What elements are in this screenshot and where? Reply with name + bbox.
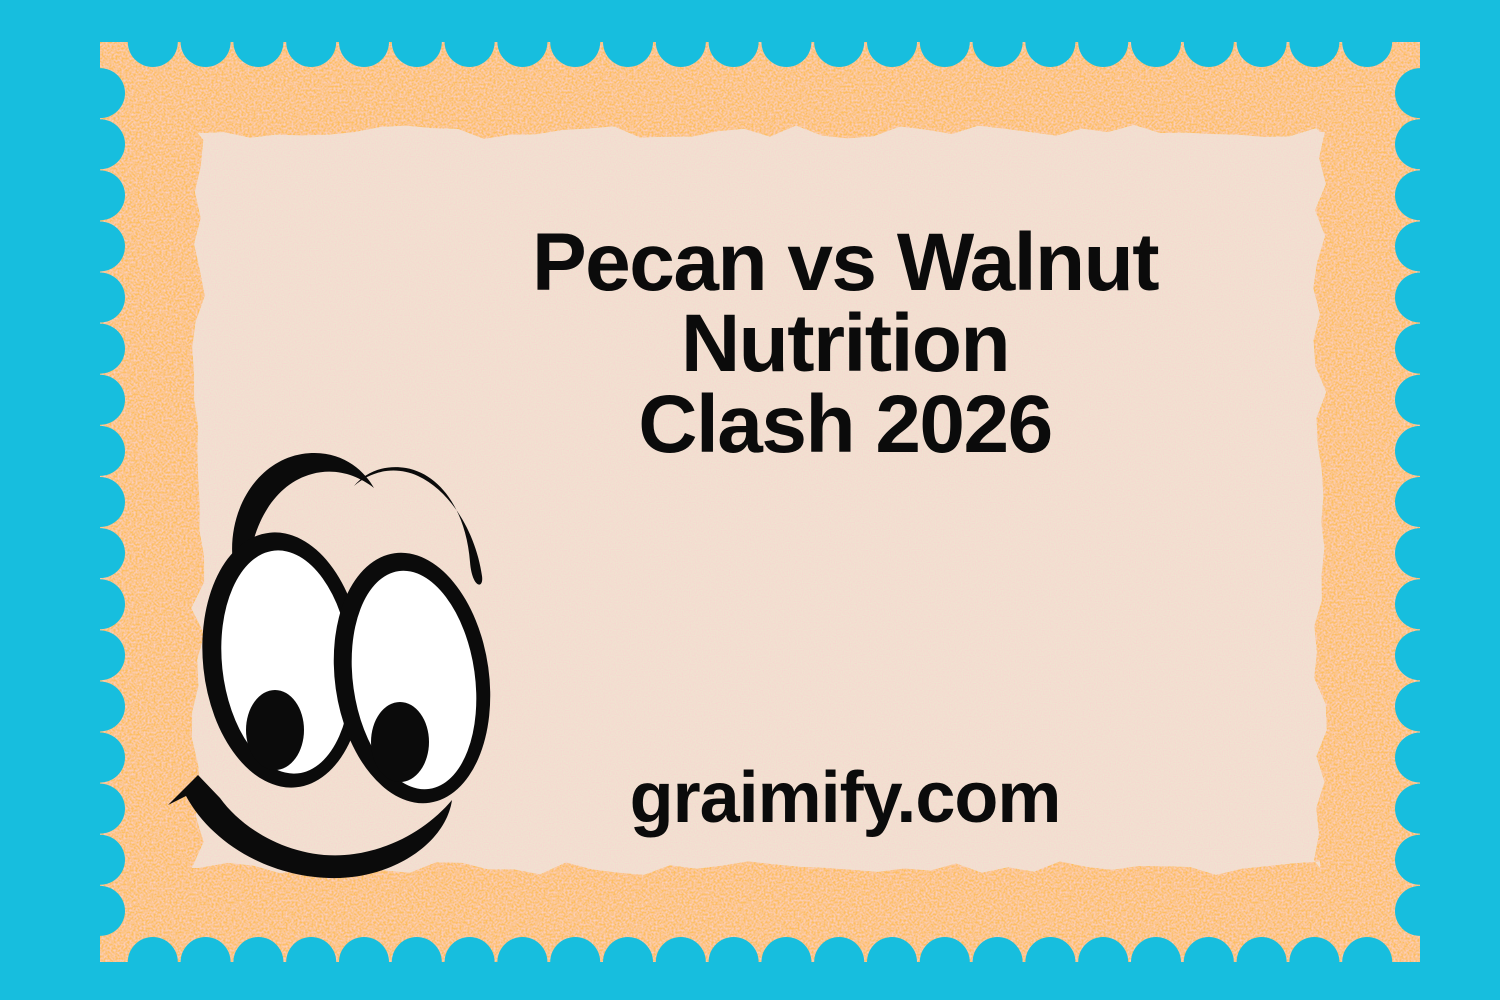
smiling-face-illustration — [150, 430, 570, 880]
poster-canvas: Pecan vs Walnut Nutrition Clash 2026 gra… — [0, 0, 1500, 1000]
right-pupil — [371, 702, 429, 782]
left-pupil — [246, 690, 304, 770]
